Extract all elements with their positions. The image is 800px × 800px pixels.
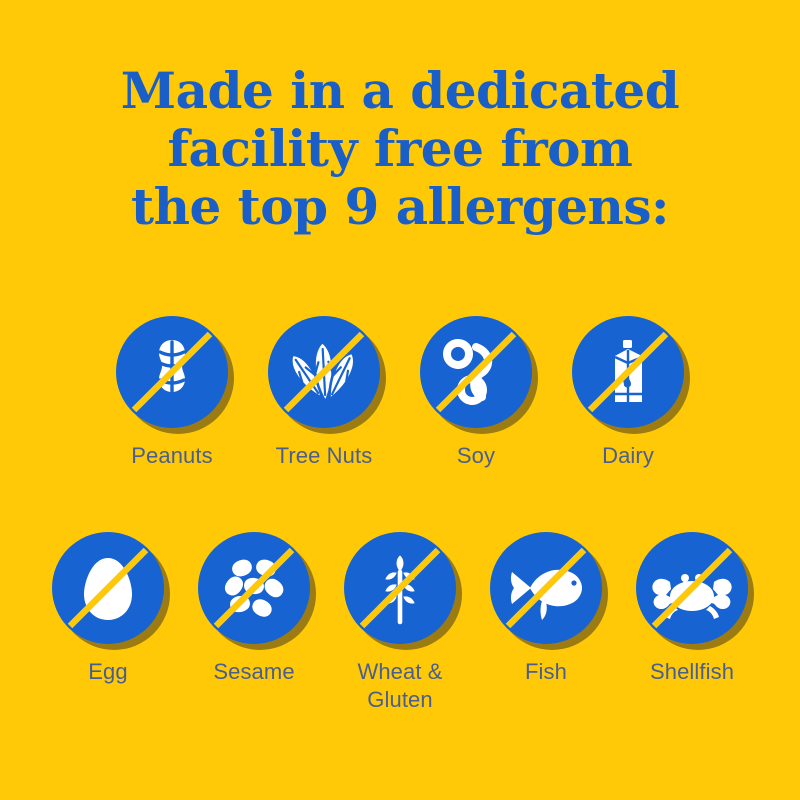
- egg-icon: [52, 532, 164, 644]
- allergen-label: Sesame: [213, 658, 294, 686]
- allergen-item-egg[interactable]: Egg: [35, 532, 181, 686]
- page-title: Made in a dedicated facility free from t…: [0, 62, 800, 236]
- allergen-item-tree-nuts[interactable]: Tree Nuts: [248, 316, 400, 470]
- wheat-stalk-icon: [344, 532, 456, 644]
- allergen-item-shellfish[interactable]: Shellfish: [619, 532, 765, 686]
- allergen-label: Shellfish: [650, 658, 734, 686]
- allergen-label: Peanuts: [131, 442, 212, 470]
- fish-badge: [490, 532, 602, 644]
- egg-badge: [52, 532, 164, 644]
- allergen-label: Soy: [457, 442, 495, 470]
- allergen-free-poster: Made in a dedicated facility free from t…: [0, 0, 800, 800]
- fish-icon: [490, 532, 602, 644]
- allergen-label-line-2: Gluten: [367, 687, 432, 712]
- peanut-badge: [116, 316, 228, 428]
- sesame-seeds-icon: [198, 532, 310, 644]
- allergen-row-2: Egg: [0, 532, 800, 714]
- almond-badge: [268, 316, 380, 428]
- allergen-item-fish[interactable]: Fish: [473, 532, 619, 686]
- wheat-badge: [344, 532, 456, 644]
- allergen-item-soy[interactable]: Soy: [400, 316, 552, 470]
- milk-carton-badge: [572, 316, 684, 428]
- allergen-row-1: Peanuts: [0, 316, 800, 470]
- headline-line-3: the top 9 allergens:: [0, 178, 800, 236]
- allergen-label: Fish: [525, 658, 567, 686]
- allergen-label: Dairy: [602, 442, 654, 470]
- allergen-item-dairy[interactable]: Dairy: [552, 316, 704, 470]
- crab-icon: [636, 532, 748, 644]
- allergen-item-sesame[interactable]: Sesame: [181, 532, 327, 686]
- allergen-label: Egg: [88, 658, 127, 686]
- headline-line-2: facility free from: [0, 120, 800, 178]
- crab-badge: [636, 532, 748, 644]
- allergen-item-wheat-gluten[interactable]: Wheat & Gluten: [327, 532, 473, 714]
- almond-icon: [268, 316, 380, 428]
- allergen-label: Wheat & Gluten: [357, 658, 442, 714]
- soybean-icon: [420, 316, 532, 428]
- allergen-label-line-1: Wheat &: [357, 659, 442, 684]
- soybean-badge: [420, 316, 532, 428]
- allergen-item-peanuts[interactable]: Peanuts: [96, 316, 248, 470]
- peanut-icon: [116, 316, 228, 428]
- milk-carton-icon: [572, 316, 684, 428]
- sesame-badge: [198, 532, 310, 644]
- allergen-label: Tree Nuts: [276, 442, 373, 470]
- headline-line-1: Made in a dedicated: [0, 62, 800, 120]
